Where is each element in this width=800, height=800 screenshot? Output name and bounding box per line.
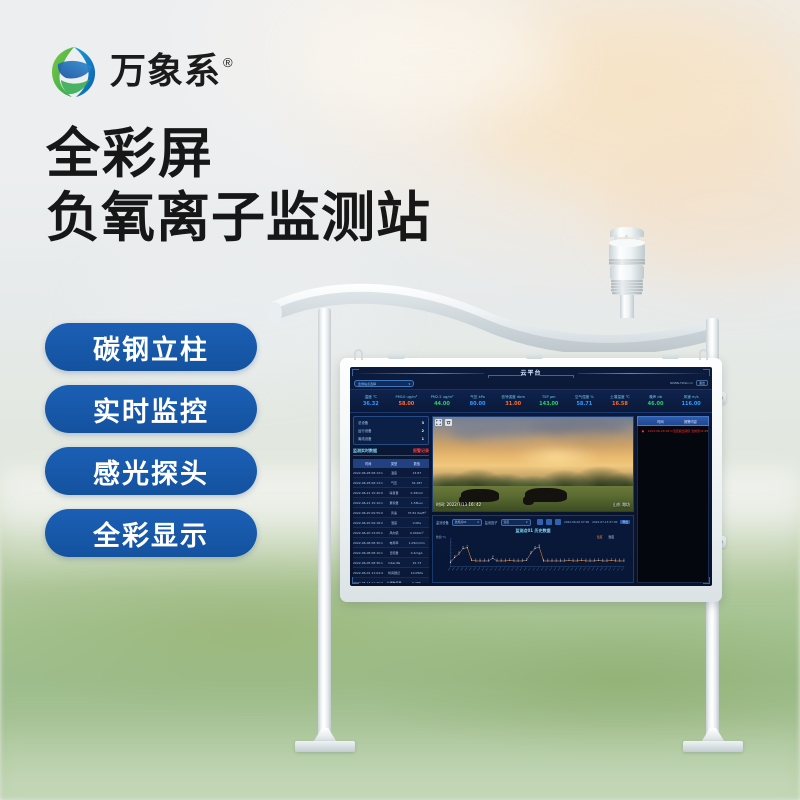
svg-text:07-06: 07-06 [591, 567, 595, 571]
svg-text:07-11: 07-11 [613, 567, 617, 571]
cell-time: 2022-06-08 08:30:13 [353, 541, 383, 545]
svg-text:27: 27 [467, 545, 469, 547]
metric-label: 风速 m/s [673, 396, 709, 400]
metric-value: 116.00 [673, 402, 709, 407]
table-section-header: 监测实时数据 报警记录 [353, 448, 429, 456]
svg-text:06-08: 06-08 [473, 567, 477, 571]
cell-type: 日照量 [383, 551, 404, 555]
left-panel: 总设备 3 运行设备 2 离线设备 1 [353, 416, 429, 583]
metric-label: PM10 ug/m³ [389, 396, 425, 400]
cell-value: 0.0Pa [405, 521, 429, 525]
cell-type: mbar/Pa [383, 561, 404, 565]
bezel-hook-right [699, 349, 708, 360]
corner-decoration-icon [703, 577, 710, 584]
cell-value: 0.48% [405, 581, 429, 584]
svg-text:06-13: 06-13 [494, 567, 498, 571]
cell-type: 累积量 [383, 501, 404, 505]
svg-text:07-04: 07-04 [583, 567, 587, 571]
cell-time: 2022-06-28 08:13:18 [353, 481, 383, 485]
metric-label: 气压 kPa [460, 396, 496, 400]
chart-legend: 温度 湿度 [597, 535, 614, 539]
svg-text:06-04: 06-04 [456, 567, 460, 571]
table-row[interactable]: 2022-06-28 08:13:18 气压 32.187 [353, 478, 429, 488]
metric-value: 46.00 [638, 402, 674, 407]
live-video-feed[interactable]: 时间: 2022/7/13 16: 42 山东 潍坊 [432, 416, 634, 512]
table-row[interactable]: 2022-06-01 11:04:47 时间戳记 10.05Pa [353, 568, 429, 578]
metric-label: TSP μm [531, 396, 567, 400]
svg-text:06-17: 06-17 [511, 567, 515, 571]
range-start-date[interactable]: 2022-06-02 07:00 [564, 520, 589, 524]
stat-row: 运行设备 2 [358, 428, 424, 433]
metric-card: 气压 kPa 80.00 [460, 391, 496, 412]
chart-plot-area: 数值(℃) 温度 湿度 6131826279888812888988891926… [436, 535, 630, 580]
chart-title: 监测点01 历史数据 [436, 528, 630, 534]
video-watermark: 山东 潍坊 [613, 502, 630, 508]
table-row[interactable]: 2022-06-20 09:18:28 湿度 0.0Pa [353, 518, 429, 528]
cell-time: 2022-06-21 15:40:09 [353, 491, 383, 495]
metric-card: 噪声 db 46.00 [638, 391, 674, 412]
chevron-down-icon: ▾ [408, 382, 410, 386]
alarm-col-time: 时间 [648, 419, 673, 424]
svg-text:07-02: 07-02 [575, 567, 579, 571]
led-display-frame: 云平台 监测站点选择 ▾ NNNN-TWLU.cn 退出 [340, 358, 722, 602]
svg-text:06-20: 06-20 [524, 567, 528, 571]
cell-value: 1.05m/min [405, 541, 429, 545]
svg-text:07-08: 07-08 [600, 567, 604, 571]
cell-time: 2022-06-08 08:10:13 [353, 551, 383, 555]
dashboard-body: 总设备 3 运行设备 2 离线设备 1 [350, 413, 712, 586]
bezel-mount-tab [526, 353, 543, 359]
device-select-value: 监测点01 [455, 520, 467, 524]
metric-label: 土壤温度 ℃ [602, 396, 638, 400]
svg-text:06-30: 06-30 [566, 567, 570, 571]
site-select-value: 监测站点选择 [358, 382, 376, 386]
svg-text:06-02: 06-02 [448, 567, 451, 571]
alarm-panel: 时间 报警内容 ● 2022-06-28 08:13:18 温度超出阈值 当前值… [637, 416, 709, 583]
stat-label: 离线设备 [358, 436, 372, 441]
cell-type: 气压 [383, 481, 404, 485]
svg-text:13: 13 [454, 555, 456, 557]
column-header-value: 数值 [405, 461, 429, 466]
chart-type-table-icon[interactable] [555, 519, 561, 525]
cell-time: 2022-06-20 13:05:18 [353, 531, 383, 535]
metric-value: 80.00 [460, 402, 496, 407]
svg-text:18: 18 [458, 552, 460, 554]
table-row[interactable]: 2022-06-28 08:13:18 温度 13.87 [353, 468, 429, 478]
svg-text:26: 26 [534, 546, 536, 548]
alarm-row[interactable]: ● 2022-06-28 08:13:18 温度超出阈值 当前值32.88℃ 上… [638, 426, 708, 435]
svg-text:06-12: 06-12 [490, 567, 494, 571]
stat-value: 2 [422, 429, 424, 433]
metric-label: 温度 ℃ [353, 396, 389, 400]
metric-value: 36.32 [353, 402, 389, 407]
legend-item-0: 温度 [597, 535, 603, 539]
metric-card: TSP μm 143.00 [531, 391, 567, 412]
cell-type: 噪音量 [383, 491, 404, 495]
svg-text:07-09: 07-09 [604, 567, 608, 571]
dashboard-screen: 云平台 监测站点选择 ▾ NNNN-TWLU.cn 退出 [350, 367, 712, 586]
cell-time: 2022-06-28 08:13:18 [353, 471, 383, 475]
svg-text:06-22: 06-22 [532, 567, 536, 571]
cell-time: 2022-06-05 08:30:13 [353, 561, 383, 565]
chart-type-line-icon[interactable] [546, 519, 552, 525]
cell-type: 湿度 [383, 521, 404, 525]
svg-text:07-03: 07-03 [579, 567, 583, 571]
realtime-data-table[interactable]: 时间 类型 数值 2022-06-28 08:13:18 温度 13.87 20… [353, 459, 429, 583]
export-button[interactable]: 导出 [620, 520, 630, 524]
metric-card: PM2.5 ug/m³ 44.00 [424, 391, 460, 412]
table-row[interactable]: 2022-05-13 11:20:38 土壤数值量 0.48% [353, 578, 429, 583]
cell-time: 2022-06-20 09:55:00 [353, 511, 383, 515]
table-row[interactable]: 2022-06-21 15:10:11 累积量 1.58Lux [353, 498, 429, 508]
stat-value: 1 [422, 437, 424, 441]
cell-value: 15.73 [405, 561, 429, 565]
alarm-status-icon: ● [638, 429, 648, 433]
stat-label: 总设备 [358, 420, 368, 425]
svg-text:06-24: 06-24 [541, 567, 545, 571]
table-section-title: 监测实时数据 [353, 448, 377, 454]
alarm-header-row: 时间 报警内容 [637, 416, 709, 426]
device-select[interactable]: 监测点01 ▾ [452, 519, 482, 526]
metric-value: 16.58 [602, 402, 638, 407]
table-header-row: 时间 类型 数值 [353, 459, 429, 468]
column-header-time: 时间 [353, 461, 383, 466]
table-row[interactable]: 2022-06-08 08:10:13 日照量 0.4mg/L [353, 548, 429, 558]
cell-type: 温度 [383, 471, 404, 475]
cell-value: 10.05Pa [405, 571, 429, 575]
cell-value: 0.38mm [405, 491, 429, 495]
cell-value: 0.4mg/L [405, 551, 429, 555]
metric-card: PM10 ug/m³ 58.00 [389, 391, 425, 412]
svg-text:06-03: 06-03 [452, 567, 456, 571]
metric-value: 31.00 [495, 402, 531, 407]
svg-text:28: 28 [538, 545, 540, 547]
user-account: NNNN-TWLU.cn [670, 381, 693, 385]
svg-text:26: 26 [462, 546, 464, 548]
cattle-silhouette [525, 488, 567, 502]
site-select[interactable]: 监测站点选择 ▾ [354, 380, 414, 387]
metric-card: 土壤温度 ℃ 16.58 [602, 391, 638, 412]
cell-type: 电导率 [383, 541, 404, 545]
snapshot-icon[interactable] [445, 419, 452, 426]
cell-value: 1.58Lux [405, 501, 429, 505]
cell-value: 0.001Kn² [405, 531, 429, 535]
svg-text:06-23: 06-23 [536, 567, 540, 571]
anchor-base-plate-left [295, 730, 355, 752]
svg-text:07-13: 07-13 [621, 567, 625, 571]
cell-value: 37.81 lbs/ft³ [405, 511, 429, 515]
svg-text:06-05: 06-05 [460, 567, 464, 571]
metric-label: 噪声 db [638, 396, 674, 400]
cell-type: 时间戳记 [383, 571, 404, 575]
stat-row: 离线设备 1 [358, 436, 424, 441]
table-row[interactable]: 2022-06-05 08:30:13 mbar/Pa 15.73 [353, 558, 429, 568]
metric-label: 信号强度 dbm [495, 396, 531, 400]
svg-text:07-01: 07-01 [570, 567, 574, 571]
device-stats-box: 总设备 3 运行设备 2 离线设备 1 [353, 416, 429, 445]
product-assembly: 云平台 监测站点选择 ▾ NNNN-TWLU.cn 退出 [0, 0, 800, 800]
metric-value: 44.00 [424, 402, 460, 407]
svg-text:06-18: 06-18 [515, 567, 519, 571]
legend-item-1: 湿度 [608, 535, 614, 539]
bezel-mount-tab [662, 353, 679, 359]
alarm-col-content: 报警内容 [673, 419, 708, 424]
svg-text:06-28: 06-28 [558, 567, 562, 571]
svg-text:12: 12 [492, 556, 494, 558]
svg-text:06-06: 06-06 [465, 567, 469, 571]
metric-card: 风速 m/s 116.00 [673, 391, 709, 412]
history-chart-panel: 监测设备 监测点01 ▾ 监测因子 温度 ▾ [432, 515, 634, 583]
corner-decoration-icon [352, 577, 359, 584]
stat-value: 3 [422, 421, 424, 425]
metric-card: 信号强度 dbm 31.00 [495, 391, 531, 412]
table-row[interactable]: 2022-06-20 09:55:00 风速 37.81 lbs/ft³ [353, 508, 429, 518]
stat-row: 总设备 3 [358, 420, 424, 425]
dashboard-title: 云平台 [350, 368, 712, 377]
metric-value: 58.71 [567, 402, 603, 407]
factor-select-value: 温度 [504, 520, 510, 524]
chart-type-bar-icon[interactable] [537, 519, 543, 525]
svg-text:06-11: 06-11 [486, 567, 490, 571]
svg-text:06-16: 06-16 [507, 567, 511, 571]
fullscreen-icon[interactable] [435, 419, 442, 426]
factor-select-label: 监测因子 [485, 520, 498, 525]
svg-text:07-05: 07-05 [587, 567, 591, 571]
alarm-time: 2022-06-28 08:13:18 [648, 429, 673, 433]
cell-value: 32.187 [405, 481, 429, 485]
cell-type: 风向值 [383, 531, 404, 535]
svg-text:06-27: 06-27 [553, 567, 557, 571]
metric-label: 空气湿度 % [567, 396, 603, 400]
svg-text:07-10: 07-10 [608, 567, 612, 571]
svg-text:06-09: 06-09 [477, 567, 481, 571]
metric-card: 温度 ℃ 36.32 [353, 391, 389, 412]
svg-text:19: 19 [530, 551, 532, 553]
cell-time: 2022-06-21 15:10:11 [353, 501, 383, 505]
metric-strip: 温度 ℃ 36.32 PM10 ug/m³ 58.00 PM2.5 ug/m³ … [350, 389, 712, 413]
svg-text:06-29: 06-29 [562, 567, 566, 571]
cell-time: 2022-06-01 11:04:47 [353, 571, 383, 575]
svg-text:06-07: 06-07 [469, 567, 473, 571]
table-row[interactable]: 2022-06-20 13:05:18 风向值 0.001Kn² [353, 528, 429, 538]
column-header-type: 类型 [383, 461, 404, 466]
device-select-label: 监测设备 [436, 520, 449, 525]
bezel-mount-tab [388, 353, 405, 359]
cell-value: 13.87 [405, 471, 429, 475]
history-line-chart: 6131826279888812888988891926288888889889… [448, 535, 630, 571]
logout-button[interactable]: 退出 [696, 380, 708, 386]
factor-select[interactable]: 温度 ▾ [501, 519, 531, 526]
carbon-steel-post-left [318, 308, 331, 740]
anchor-base-plate-right [683, 730, 743, 752]
center-panel: 时间: 2022/7/13 16: 42 山东 潍坊 监测设备 监测点01 ▾ … [432, 416, 634, 583]
metric-label: PM2.5 ug/m³ [424, 396, 460, 400]
metric-value: 58.00 [389, 402, 425, 407]
chart-controls: 监测设备 监测点01 ▾ 监测因子 温度 ▾ [436, 518, 630, 527]
video-toolbar [435, 419, 452, 426]
metric-card: 空气湿度 % 58.71 [567, 391, 603, 412]
ultrasonic-weather-sensor [598, 222, 656, 318]
product-marketing-image: 万象系 ® 全彩屏 负氧离子监测站 碳钢立柱 实时监控 感光探头 全彩显示 [0, 0, 800, 800]
video-timestamp: 时间: 2022/7/13 16: 42 [436, 502, 481, 508]
range-end-date[interactable]: 2022-07-13 07:00 [592, 520, 617, 524]
alarm-content: 温度超出阈值 当前值32.88℃ 上限30℃ [673, 429, 708, 433]
stat-label: 运行设备 [358, 428, 372, 433]
svg-text:06-14: 06-14 [498, 567, 502, 571]
table-row[interactable]: 2022-06-08 08:30:13 电导率 1.05m/min [353, 538, 429, 548]
user-area: NNNN-TWLU.cn 退出 [670, 380, 708, 386]
svg-text:06-10: 06-10 [481, 567, 485, 571]
svg-text:06-15: 06-15 [503, 567, 507, 571]
dashboard-header: 云平台 [350, 367, 712, 380]
svg-text:06-26: 06-26 [549, 567, 553, 571]
cell-type: 风速 [383, 511, 404, 515]
chevron-down-icon: ▾ [526, 520, 527, 524]
chevron-down-icon: ▾ [477, 520, 478, 524]
cell-type: 土壤数值量 [383, 581, 404, 584]
dashboard-subbar: 监测站点选择 ▾ NNNN-TWLU.cn 退出 [350, 380, 712, 389]
svg-text:06-21: 06-21 [528, 567, 532, 571]
alarm-records-link[interactable]: 报警记录 [413, 448, 429, 454]
alarm-list[interactable]: ● 2022-06-28 08:13:18 温度超出阈值 当前值32.88℃ 上… [637, 426, 709, 583]
svg-text:07-07: 07-07 [596, 567, 600, 571]
bezel-hook-left [354, 349, 363, 360]
video-scene [433, 417, 633, 511]
cattle-silhouette [461, 489, 499, 502]
svg-text:07-12: 07-12 [617, 567, 621, 571]
svg-text:06-25: 06-25 [545, 567, 549, 571]
cell-time: 2022-06-20 09:18:28 [353, 521, 383, 525]
chart-ylabel: 数值(℃) [436, 535, 446, 539]
metric-value: 143.00 [531, 402, 567, 407]
svg-text:06-19: 06-19 [520, 567, 524, 571]
table-row[interactable]: 2022-06-21 15:40:09 噪音量 0.38mm [353, 488, 429, 498]
